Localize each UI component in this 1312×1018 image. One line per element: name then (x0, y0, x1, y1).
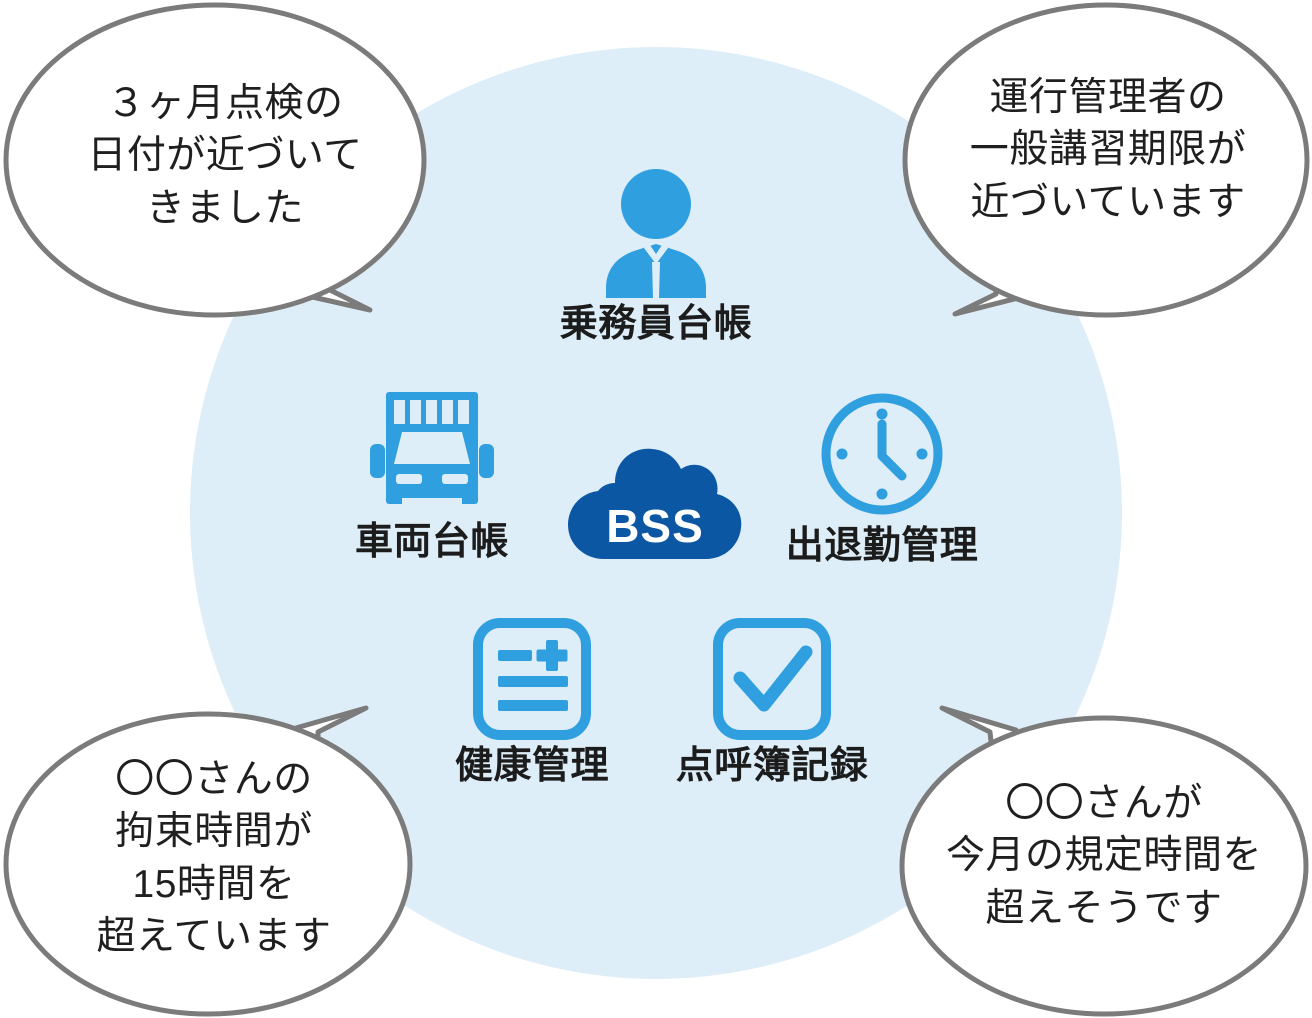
clock-icon (816, 388, 948, 520)
node-vehicle-ledger[interactable]: 車両台帳 (262, 388, 602, 564)
bss-cloud-label: BSS (560, 443, 750, 583)
node-rollcall-record[interactable]: 点呼簿記録 (612, 618, 932, 788)
node-crew-ledger[interactable]: 乗務員台帳 (486, 168, 826, 346)
diagram-canvas: 乗務員台帳 (0, 0, 1312, 1018)
speech-bubble-top-right-text: 運行管理者の 一般講習期限が 近づいています (924, 72, 1292, 229)
node-attendance-management[interactable]: 出退勤管理 (712, 388, 1052, 568)
speech-bubble-bottom-left[interactable]: 〇〇さんの 拘束時間が 15時間を 超えています (0, 700, 432, 1018)
bss-cloud-logo[interactable]: BSS (560, 443, 750, 583)
node-attendance-management-label: 出退勤管理 (786, 526, 979, 568)
speech-bubble-top-left[interactable]: ３ヶ月点検の 日付が近づいて きました (0, 0, 450, 330)
bus-front-icon (362, 388, 502, 516)
node-health-management-label: 健康管理 (455, 746, 609, 788)
node-crew-ledger-label: 乗務員台帳 (560, 304, 753, 346)
node-vehicle-ledger-label: 車両台帳 (355, 522, 509, 564)
person-in-suit-icon (582, 168, 730, 298)
speech-bubble-bottom-right[interactable]: 〇〇さんが 今月の規定時間を 超えそうです (890, 700, 1312, 1018)
medical-record-icon (472, 618, 592, 740)
check-square-icon (712, 618, 832, 740)
speech-bubble-top-left-text: ３ヶ月点検の 日付が近づいて きました (34, 78, 416, 235)
speech-bubble-top-right[interactable]: 運行管理者の 一般講習期限が 近づいています (900, 0, 1312, 330)
speech-bubble-bottom-right-text: 〇〇さんが 今月の規定時間を 超えそうです (918, 778, 1290, 935)
node-rollcall-record-label: 点呼簿記録 (676, 746, 869, 788)
speech-bubble-bottom-left-text: 〇〇さんの 拘束時間が 15時間を 超えています (24, 754, 404, 963)
